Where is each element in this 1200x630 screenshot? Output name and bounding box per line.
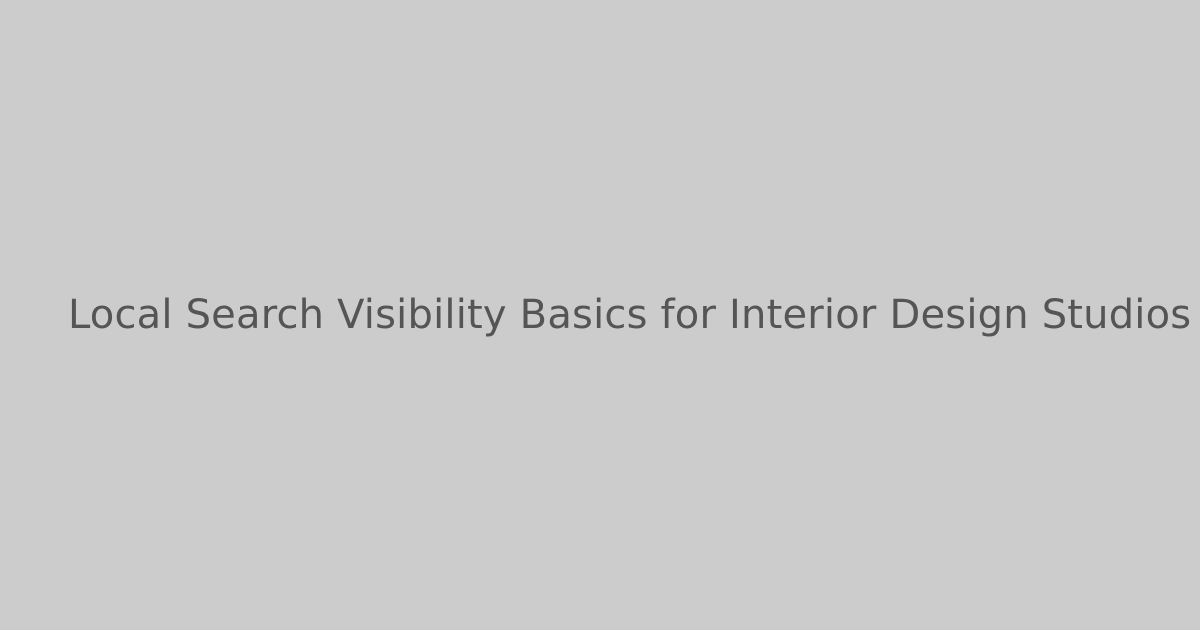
page-title: Local Search Visibility Basics for Inter… (68, 292, 1108, 338)
card-content: Local Search Visibility Basics for Inter… (0, 292, 1200, 338)
placeholder-card: Local Search Visibility Basics for Inter… (0, 0, 1200, 630)
